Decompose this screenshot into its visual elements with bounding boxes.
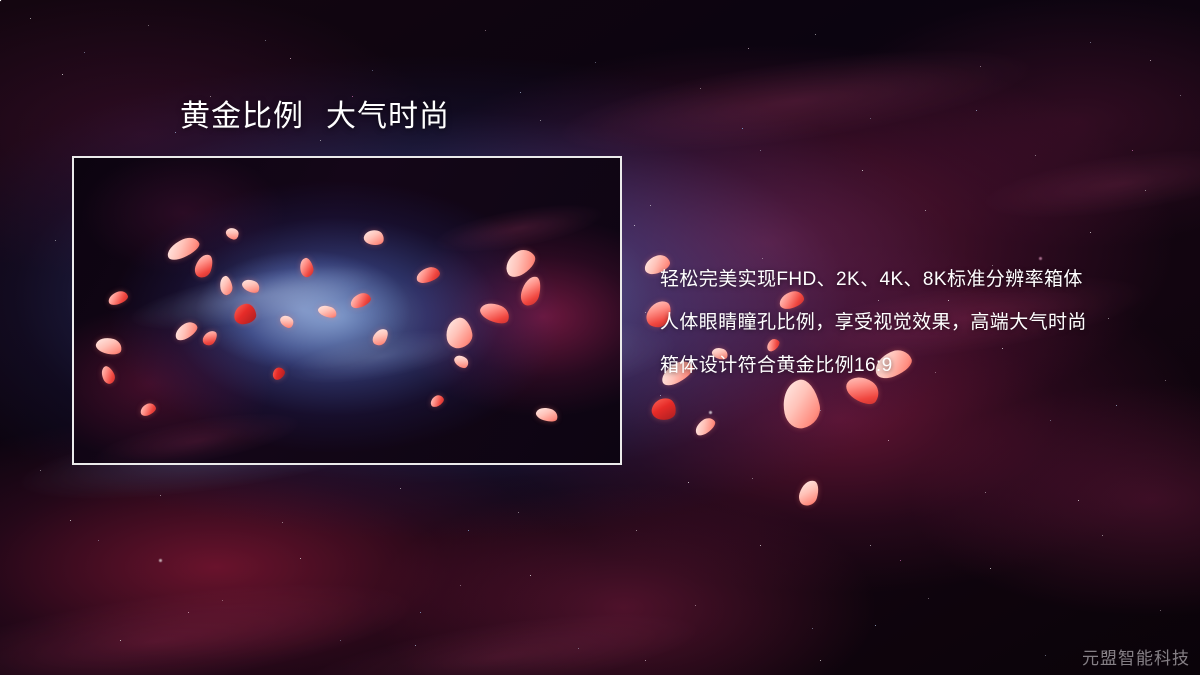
body-line-3: 箱体设计符合黄金比例16:9: [660, 344, 1190, 387]
title-part-one: 黄金比例: [180, 100, 304, 133]
watermark: 元盟智能科技: [1082, 644, 1190, 669]
body-line-2: 人体眼睛瞳孔比例，享受视觉效果，高端大气时尚: [660, 301, 1190, 344]
body-text-block: 轻松完美实现FHD、2K、4K、8K标准分辨率箱体 人体眼睛瞳孔比例，享受视觉效…: [660, 258, 1190, 387]
title-part-two: 大气时尚: [326, 100, 450, 133]
page-title: 黄金比例大气时尚: [180, 100, 450, 133]
body-line-1: 轻松完美实现FHD、2K、4K、8K标准分辨率箱体: [660, 258, 1190, 301]
presentation-slide: 黄金比例大气时尚 轻松完美实现FHD、2K、4K、8K标准分辨率箱体 人体眼睛瞳…: [0, 0, 1200, 675]
framed-image[interactable]: [72, 156, 622, 465]
